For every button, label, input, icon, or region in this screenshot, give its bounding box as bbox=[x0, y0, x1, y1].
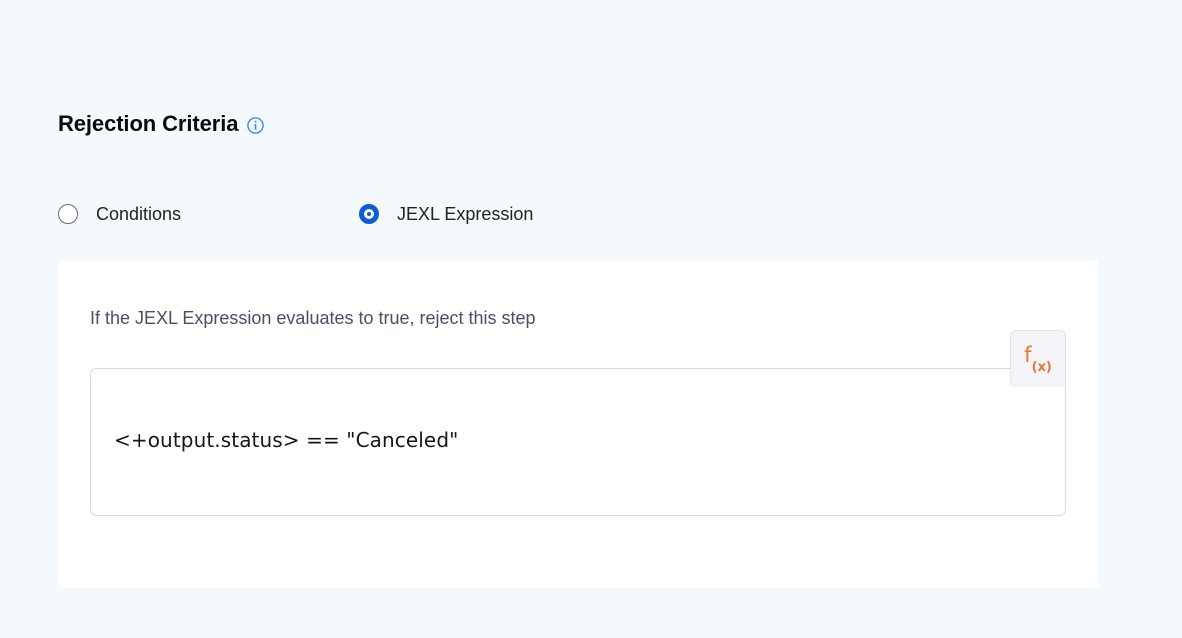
fx-glyph-main: f bbox=[1024, 343, 1031, 367]
expression-caption: If the JEXL Expression evaluates to true… bbox=[90, 306, 536, 330]
expression-input-wrapper: <+output.status> == "Canceled" f(x) bbox=[90, 368, 1066, 516]
radio-label-jexl-expression: JEXL Expression bbox=[397, 202, 533, 226]
page-title: Rejection Criteria bbox=[58, 110, 238, 138]
fx-glyph-sub: (x) bbox=[1032, 360, 1052, 375]
info-circle-icon[interactable] bbox=[247, 117, 264, 134]
fx-expression-icon[interactable]: f(x) bbox=[1010, 330, 1066, 387]
radio-option-conditions[interactable]: Conditions bbox=[58, 198, 359, 230]
jexl-expression-input[interactable]: <+output.status> == "Canceled" bbox=[90, 368, 1066, 516]
section-header: Rejection Criteria bbox=[58, 108, 264, 140]
radio-circle-selected-icon[interactable] bbox=[359, 204, 379, 224]
jexl-expression-value: <+output.status> == "Canceled" bbox=[114, 427, 458, 453]
jexl-expression-card: If the JEXL Expression evaluates to true… bbox=[58, 261, 1098, 588]
criteria-type-radio-group: Conditions JEXL Expression bbox=[58, 198, 533, 230]
page-root: Rejection Criteria Conditions JEXL Expre… bbox=[0, 0, 1182, 638]
radio-option-jexl-expression[interactable]: JEXL Expression bbox=[359, 198, 533, 230]
fx-glyph: f(x) bbox=[1024, 345, 1052, 370]
radio-label-conditions: Conditions bbox=[96, 202, 181, 226]
radio-circle-unselected-icon[interactable] bbox=[58, 204, 78, 224]
